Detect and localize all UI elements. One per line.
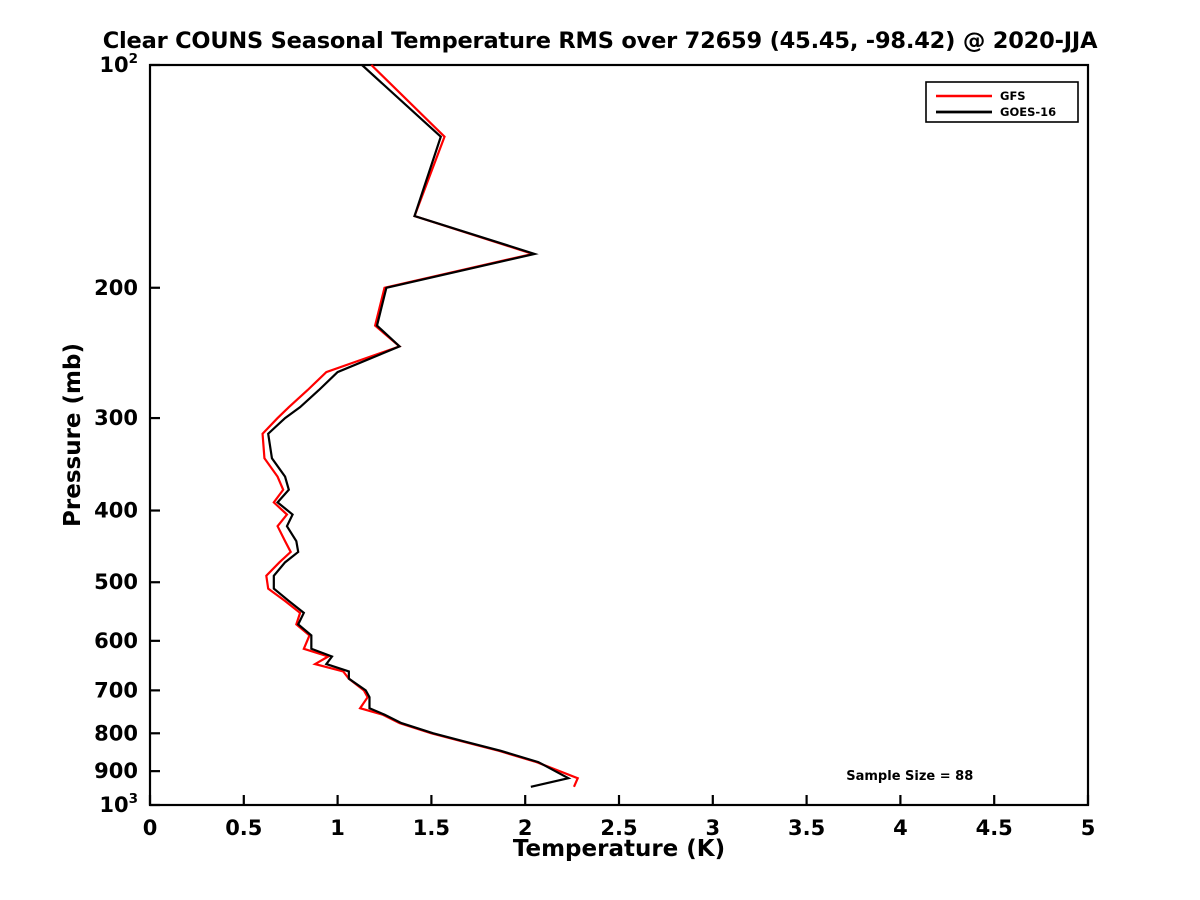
y-tick-label: 103 (99, 791, 138, 817)
y-tick-label: 400 (94, 499, 138, 523)
x-tick-label: 1.5 (413, 816, 450, 840)
x-tick-label: 4 (893, 816, 908, 840)
figure-canvas: Clear COUNS Seasonal Temperature RMS ove… (0, 0, 1200, 900)
x-tick-label: 1 (330, 816, 345, 840)
sample-size-annotation: Sample Size = 88 (846, 769, 973, 784)
legend-label-goes16: GOES-16 (1000, 105, 1056, 119)
legend-label-gfs: GFS (1000, 89, 1026, 103)
x-axis-ticks: 00.511.522.533.544.55 (143, 795, 1096, 840)
plot-border (150, 65, 1088, 805)
x-tick-label: 5 (1081, 816, 1096, 840)
series-line-gfs (263, 65, 578, 787)
y-tick-label: 800 (94, 721, 138, 745)
y-tick-label: 600 (94, 629, 138, 653)
x-tick-label: 0.5 (225, 816, 262, 840)
axis-frame (150, 65, 1088, 805)
x-tick-label: 0 (143, 816, 158, 840)
y-tick-label: 102 (99, 51, 138, 77)
x-tick-label: 4.5 (976, 816, 1013, 840)
y-tick-label: 500 (94, 570, 138, 594)
chart-plot-area: 00.511.522.533.544.55 102200300400500600… (0, 0, 1200, 900)
y-axis-title: Pressure (mb) (60, 343, 86, 527)
y-tick-label: 200 (94, 276, 138, 300)
x-axis-title: Temperature (K) (513, 836, 725, 862)
y-tick-label: 700 (94, 678, 138, 702)
series-line-goes-16 (268, 65, 568, 787)
y-tick-label: 300 (94, 406, 138, 430)
annotation-layer: Sample Size = 88 (846, 769, 973, 784)
data-series-layer (263, 65, 578, 787)
x-tick-label: 3.5 (788, 816, 825, 840)
y-tick-label: 900 (94, 759, 138, 783)
chart-legend: GFS GOES-16 (926, 82, 1078, 122)
